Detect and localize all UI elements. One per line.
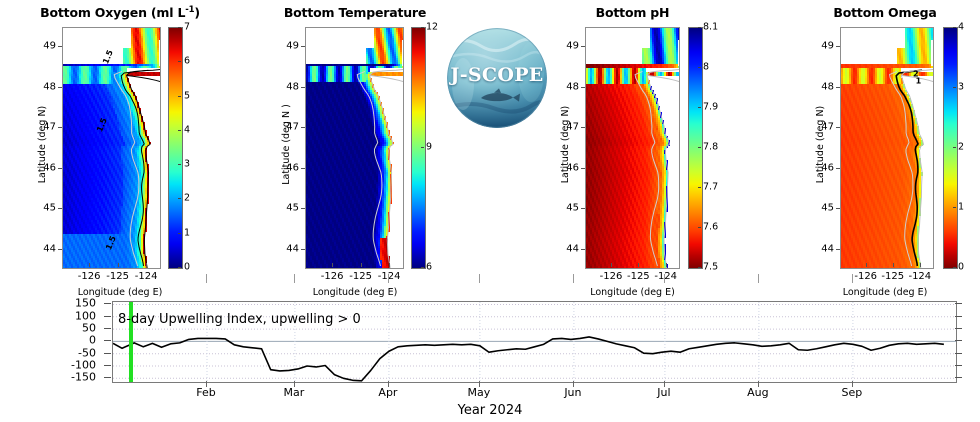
map-ph-ytick: 45 [555, 203, 579, 214]
tick-mark [58, 127, 62, 128]
contour-label: 1 [916, 76, 922, 85]
panel-title-omega: Bottom Omega [790, 5, 980, 20]
map-omega-xtick: -124 [908, 271, 931, 282]
map-temperature-xtick: -126 [321, 271, 344, 282]
tick-mark [421, 267, 424, 268]
tick-mark [301, 87, 305, 88]
tick-mark-top [758, 274, 759, 283]
upwelling-xtick: Jul [657, 386, 670, 399]
map-omega-xtick: -126 [854, 271, 877, 282]
tick-mark [479, 381, 480, 387]
tick-mark [698, 27, 701, 28]
tick-mark [58, 46, 62, 47]
colorbar-ph-tick: 8 [703, 62, 709, 73]
upwelling-index-chart: 8-day Upwelling Index, upwelling > 0 Yea… [0, 288, 980, 422]
tick-mark [178, 164, 181, 165]
panel-title-temperature: Bottom Temperature [250, 5, 460, 20]
colorbar-oxygen-tick: 5 [184, 90, 190, 101]
tick-mark [698, 267, 701, 268]
tick-mark [893, 263, 894, 267]
colorbar-oxygen-tick: 3 [184, 159, 190, 170]
tick-mark [332, 263, 333, 267]
tick-mark [178, 233, 181, 234]
panel-oxygen: Bottom Oxygen (ml L-1) 494847464544-126-… [0, 0, 240, 288]
tick-mark-top [852, 274, 853, 283]
colorbar-omega-tick: 1 [958, 202, 964, 213]
map-oxygen-ytick: 45 [32, 203, 56, 214]
tick-mark [118, 263, 119, 267]
map-oxygen-xtick: -125 [106, 271, 129, 282]
tick-mark [58, 249, 62, 250]
tick-mark-top [573, 274, 574, 283]
tick-mark [836, 127, 840, 128]
tick-mark [104, 340, 111, 341]
tick-mark [178, 267, 181, 268]
tick-mark [361, 263, 362, 267]
upwelling-ytick: 0 [40, 334, 96, 347]
colorbar-ph-tick: 7.9 [703, 102, 718, 113]
colorbar-omega-tick: 4 [958, 22, 964, 33]
tick-mark [58, 208, 62, 209]
tick-mark [698, 107, 701, 108]
upwelling-ytick: 50 [40, 322, 96, 335]
upwelling-ytick: -50 [40, 346, 96, 359]
tick-mark [836, 168, 840, 169]
colorbar-omega-tick: 0 [958, 262, 964, 273]
tick-mark [178, 130, 181, 131]
tick-mark [421, 27, 424, 28]
tick-mark [758, 381, 759, 387]
map-temperature [305, 27, 404, 269]
tick-mark [581, 87, 585, 88]
tick-mark [953, 87, 956, 88]
upwelling-xtick: Apr [378, 386, 397, 399]
map-ph [585, 27, 680, 269]
tick-mark [104, 365, 111, 366]
tick-mark [953, 27, 956, 28]
tick-mark [666, 263, 667, 267]
tick-mark [955, 328, 962, 329]
tick-mark [178, 198, 181, 199]
map-temperature-ytick: 48 [275, 81, 299, 92]
upwelling-x-axis-label: Year 2024 [0, 403, 980, 418]
tick-mark [104, 303, 111, 304]
map-oxygen-ytick: 49 [32, 41, 56, 52]
colorbar-temperature-tick: 9 [426, 142, 432, 153]
map-ph-xtick: -124 [654, 271, 677, 282]
tick-mark [953, 267, 956, 268]
tick-mark [955, 316, 962, 317]
tick-mark [955, 365, 962, 366]
tick-mark [581, 208, 585, 209]
map-ph-xtick: -125 [627, 271, 650, 282]
upwelling-ytick: 100 [40, 309, 96, 322]
colorbar-ph-tick: 8.1 [703, 22, 718, 33]
tick-mark [836, 46, 840, 47]
upwelling-xtick: Feb [196, 386, 215, 399]
tick-mark [836, 249, 840, 250]
map-oxygen-xtick: -124 [135, 271, 158, 282]
tick-mark [301, 208, 305, 209]
colorbar-temperature-tick: 6 [426, 262, 432, 273]
tick-mark [955, 340, 962, 341]
tick-mark [178, 27, 181, 28]
tick-mark [178, 96, 181, 97]
tick-mark [146, 263, 147, 267]
map-ph-ytick: 49 [555, 41, 579, 52]
map-omega-xtick: -125 [881, 271, 904, 282]
tick-mark [611, 263, 612, 267]
upwelling-ytick: 150 [40, 297, 96, 310]
tick-mark-top [388, 274, 389, 283]
map-oxygen-ytick: 48 [32, 81, 56, 92]
map-ph-ytick: 48 [555, 81, 579, 92]
panel-title-ph: Bottom pH [540, 5, 725, 20]
map-temperature-ytick: 44 [275, 243, 299, 254]
panel-temperature: Bottom Temperature 494847464544-126-125-… [250, 0, 460, 288]
map-temperature-ytick: 45 [275, 203, 299, 214]
tick-mark [573, 381, 574, 387]
colorbar-oxygen-tick: 1 [184, 227, 190, 238]
map-oxygen [62, 27, 161, 269]
tick-mark-top [664, 274, 665, 283]
tick-mark [698, 147, 701, 148]
logo-label: J-SCOPE [447, 64, 547, 86]
map-omega-ytick: 49 [810, 41, 834, 52]
tick-mark [698, 187, 701, 188]
map-omega-ytick: 44 [810, 243, 834, 254]
upwelling-xtick: Aug [747, 386, 768, 399]
tick-mark [920, 263, 921, 267]
tick-mark [178, 61, 181, 62]
colorbar-oxygen-tick: 7 [184, 22, 190, 33]
map-temperature-xtick: -125 [349, 271, 372, 282]
colorbar-ph-tick: 7.7 [703, 182, 718, 193]
map-ph-xtick: -126 [600, 271, 623, 282]
tick-mark [104, 353, 111, 354]
tick-mark [421, 147, 424, 148]
map-omega-ytick: 48 [810, 81, 834, 92]
panel-title-oxygen: Bottom Oxygen (ml L-1) [0, 5, 240, 20]
colorbar-ph-tick: 7.8 [703, 142, 718, 153]
tick-mark [852, 381, 853, 387]
colorbar-ph [688, 27, 703, 269]
map-temperature-ytick: 49 [275, 41, 299, 52]
panel-omega: Bottom Omega 494847464544-126-125-124Lon… [790, 0, 980, 288]
tick-mark [389, 263, 390, 267]
colorbar-temperature [411, 27, 426, 269]
tick-mark [89, 263, 90, 267]
tick-mark [104, 328, 111, 329]
colorbar-omega-tick: 2 [958, 142, 964, 153]
tick-mark-top [294, 274, 295, 283]
upwelling-xtick: May [468, 386, 491, 399]
colorbar-oxygen-tick: 2 [184, 193, 190, 204]
map-temperature-ylabel: Latitude (deg N ) [281, 102, 292, 187]
tick-mark-top [206, 274, 207, 283]
map-oxygen-ylabel: Latitude (deg N) [37, 102, 48, 187]
tick-mark [698, 67, 701, 68]
colorbar-omega-tick: 3 [958, 82, 964, 93]
j-scope-logo: J-SCOPE [447, 28, 547, 128]
upwelling-ytick: -100 [40, 359, 96, 372]
map-omega [840, 27, 934, 269]
panel-ph: Bottom pH 494847464544-126-125-124Longit… [540, 0, 725, 288]
map-ph-ytick: 44 [555, 243, 579, 254]
tick-mark [294, 381, 295, 387]
map-omega-ylabel: Latitude (deg N) [815, 102, 826, 187]
map-ph-ylabel: Latitude (deg N) [560, 102, 571, 187]
tick-mark [58, 168, 62, 169]
tick-mark [581, 168, 585, 169]
map-omega-ytick: 45 [810, 203, 834, 214]
tick-mark [955, 303, 962, 304]
tick-mark [206, 381, 207, 387]
upwelling-chart-title: 8-day Upwelling Index, upwelling > 0 [118, 312, 361, 327]
colorbar-oxygen-tick: 6 [184, 56, 190, 67]
tick-mark [104, 316, 111, 317]
colorbar-oxygen-tick: 0 [184, 262, 190, 273]
tick-mark [388, 381, 389, 387]
tick-mark [58, 87, 62, 88]
colorbar-oxygen-tick: 4 [184, 124, 190, 135]
tick-mark [301, 127, 305, 128]
tick-mark [698, 227, 701, 228]
tick-mark [301, 168, 305, 169]
colorbar-temperature-tick: 12 [426, 22, 438, 33]
tick-mark [581, 46, 585, 47]
tick-mark [104, 377, 111, 378]
upwelling-xtick: Sep [842, 386, 863, 399]
tick-mark [955, 353, 962, 354]
tick-mark [866, 263, 867, 267]
map-oxygen-ytick: 44 [32, 243, 56, 254]
tick-mark [664, 381, 665, 387]
tick-mark [301, 46, 305, 47]
map-oxygen-xtick: -126 [78, 271, 101, 282]
tick-mark [953, 147, 956, 148]
colorbar-omega [943, 27, 958, 269]
tick-mark-top [479, 274, 480, 283]
upwelling-ytick: -150 [40, 371, 96, 384]
tick-mark [581, 249, 585, 250]
upwelling-xtick: Jun [564, 386, 581, 399]
upwelling-xtick: Mar [284, 386, 305, 399]
map-temperature-xtick: -124 [378, 271, 401, 282]
tick-mark [836, 208, 840, 209]
tick-mark [581, 127, 585, 128]
tick-mark [836, 87, 840, 88]
tick-mark [638, 263, 639, 267]
colorbar-ph-tick: 7.5 [703, 262, 718, 273]
tick-mark [953, 207, 956, 208]
tick-mark [955, 377, 962, 378]
colorbar-ph-tick: 7.6 [703, 222, 718, 233]
tick-mark [301, 249, 305, 250]
